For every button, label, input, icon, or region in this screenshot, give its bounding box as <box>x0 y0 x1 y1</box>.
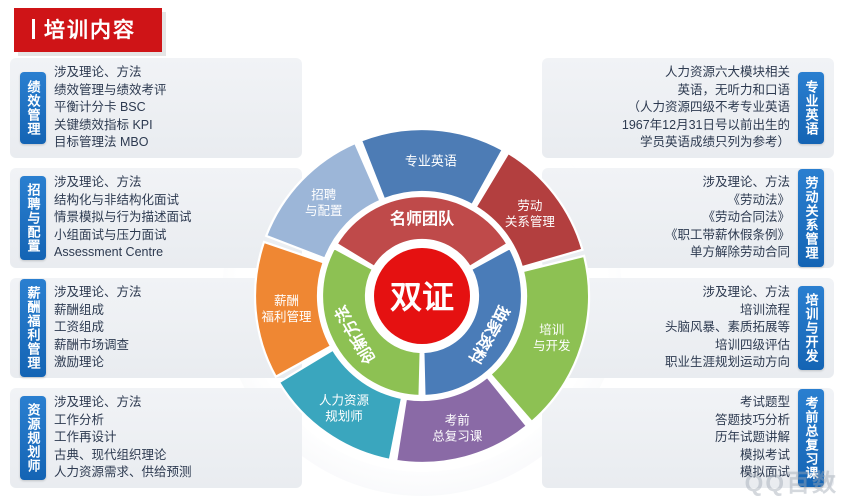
wheel-inner-slice-label: 名师团队 <box>390 209 455 228</box>
training-content-wheel: 绩效管理专业英语劳动关系管理培训与开发考前总复习课人力资源规划师薪酬福利管理招聘… <box>252 126 592 466</box>
module-card-tab: 薪酬福利管理 <box>20 279 46 377</box>
module-card-tab: 资源规划师 <box>20 396 46 480</box>
module-card-tab: 专业英语 <box>798 72 824 144</box>
module-card-line: 英语，无听力和口语 <box>556 82 790 100</box>
page-title-banner: 培训内容 <box>14 8 162 52</box>
title-accent-bar <box>32 19 35 39</box>
module-card-line: 平衡计分卡 BSC <box>54 99 288 117</box>
module-card-tab: 招聘与配置 <box>20 176 46 260</box>
module-card-tab: 培训与开发 <box>798 286 824 370</box>
module-card-line: 模拟面试 <box>556 464 790 482</box>
module-card-line: （人力资源四级不考专业英语 <box>556 99 790 117</box>
wheel-svg: 绩效管理专业英语劳动关系管理培训与开发考前总复习课人力资源规划师薪酬福利管理招聘… <box>252 126 592 466</box>
module-card-tab: 劳动关系管理 <box>798 169 824 267</box>
center-label: 双证 <box>390 279 454 315</box>
page-title: 培训内容 <box>44 14 136 44</box>
module-card-line: 人力资源需求、供给预测 <box>54 464 288 482</box>
module-card-line: 人力资源六大模块相关 <box>556 64 790 82</box>
module-card-line: 绩效管理与绩效考评 <box>54 82 288 100</box>
wheel-outer-slice-label: 专业英语 <box>405 153 457 168</box>
module-card-line: 涉及理论、方法 <box>54 64 288 82</box>
module-card-tab: 考前总复习课 <box>798 389 824 487</box>
module-card-tab: 绩效管理 <box>20 72 46 144</box>
